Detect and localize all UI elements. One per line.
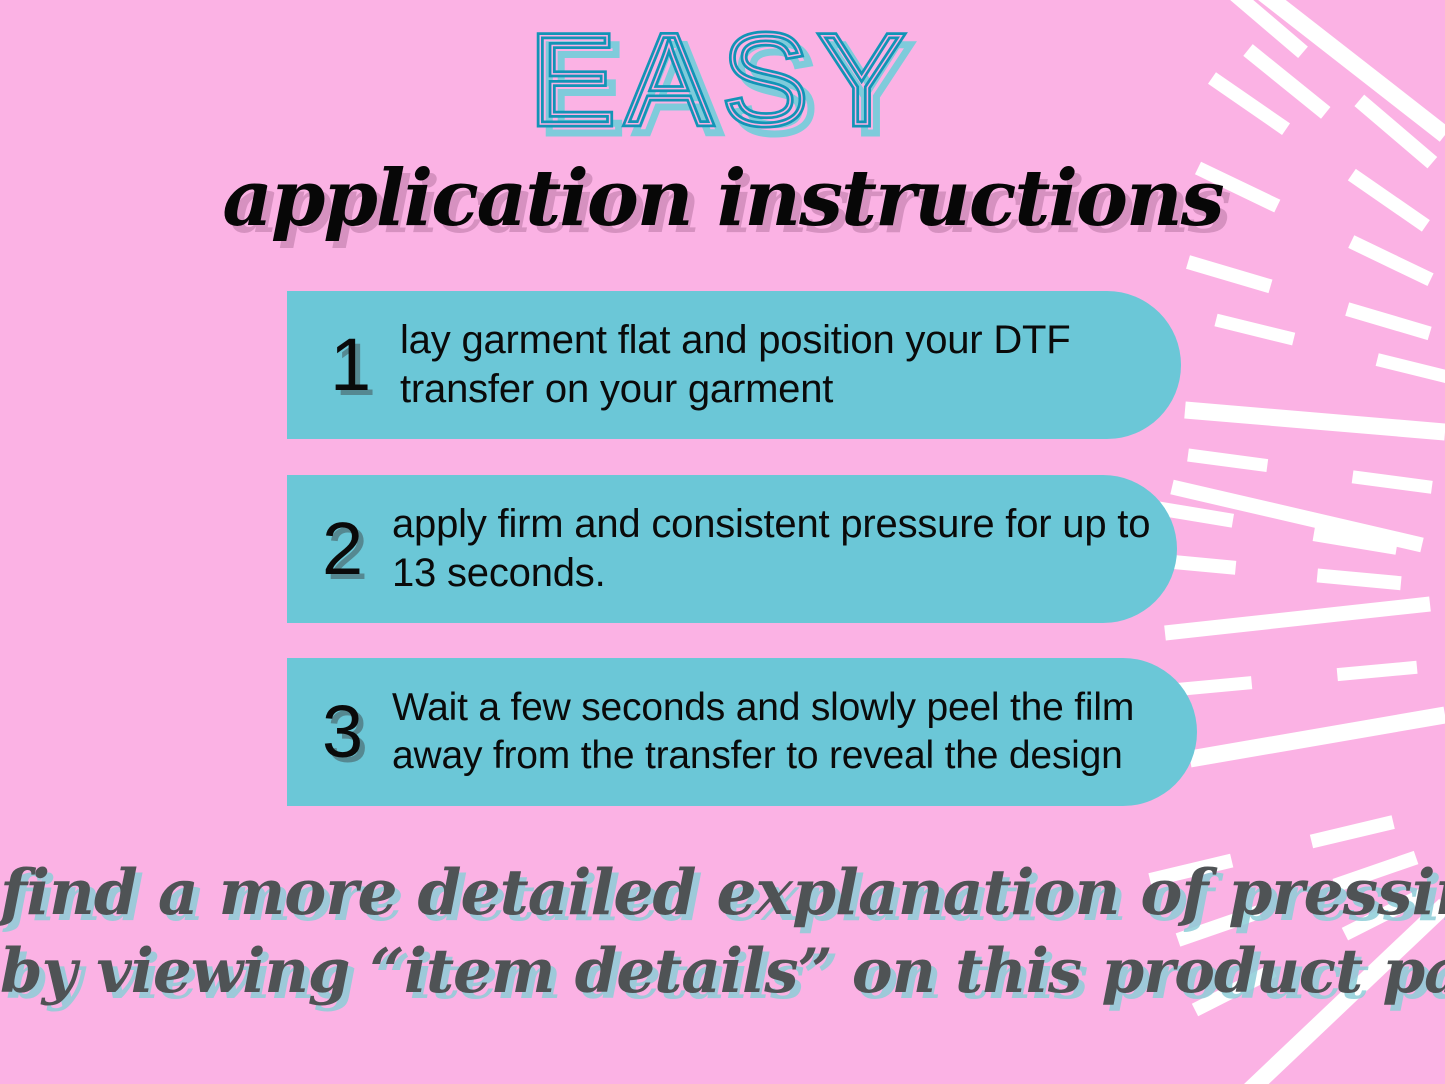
page-title-inner-highlight: EASY bbox=[0, 14, 1445, 148]
page-subtitle: application instructions bbox=[0, 160, 1445, 238]
footer-note-line-1: find a more detailed explanation of pres… bbox=[0, 852, 1445, 933]
step-item-2: 2 apply firm and consistent pressure for… bbox=[287, 475, 1177, 623]
step-number-2: 2 bbox=[322, 512, 392, 586]
page-title-block: EASY EASY EASY bbox=[0, 14, 1445, 164]
step-item-1: 1 lay garment flat and position your DTF… bbox=[287, 291, 1181, 439]
step-text-3: Wait a few seconds and slowly peel the f… bbox=[392, 684, 1197, 779]
footer-note: find a more detailed explanation of pres… bbox=[0, 852, 1445, 1011]
step-text-1: lay garment flat and position your DTF t… bbox=[400, 316, 1181, 414]
instruction-graphic-canvas: EASY EASY EASY application instructions … bbox=[0, 0, 1445, 1084]
step-number-3: 3 bbox=[322, 695, 392, 769]
footer-note-line-2: by viewing “item details” on this produc… bbox=[0, 933, 1445, 1011]
step-text-2: apply firm and consistent pressure for u… bbox=[392, 500, 1177, 598]
step-item-3: 3 Wait a few seconds and slowly peel the… bbox=[287, 658, 1197, 806]
step-number-1: 1 bbox=[322, 328, 400, 402]
